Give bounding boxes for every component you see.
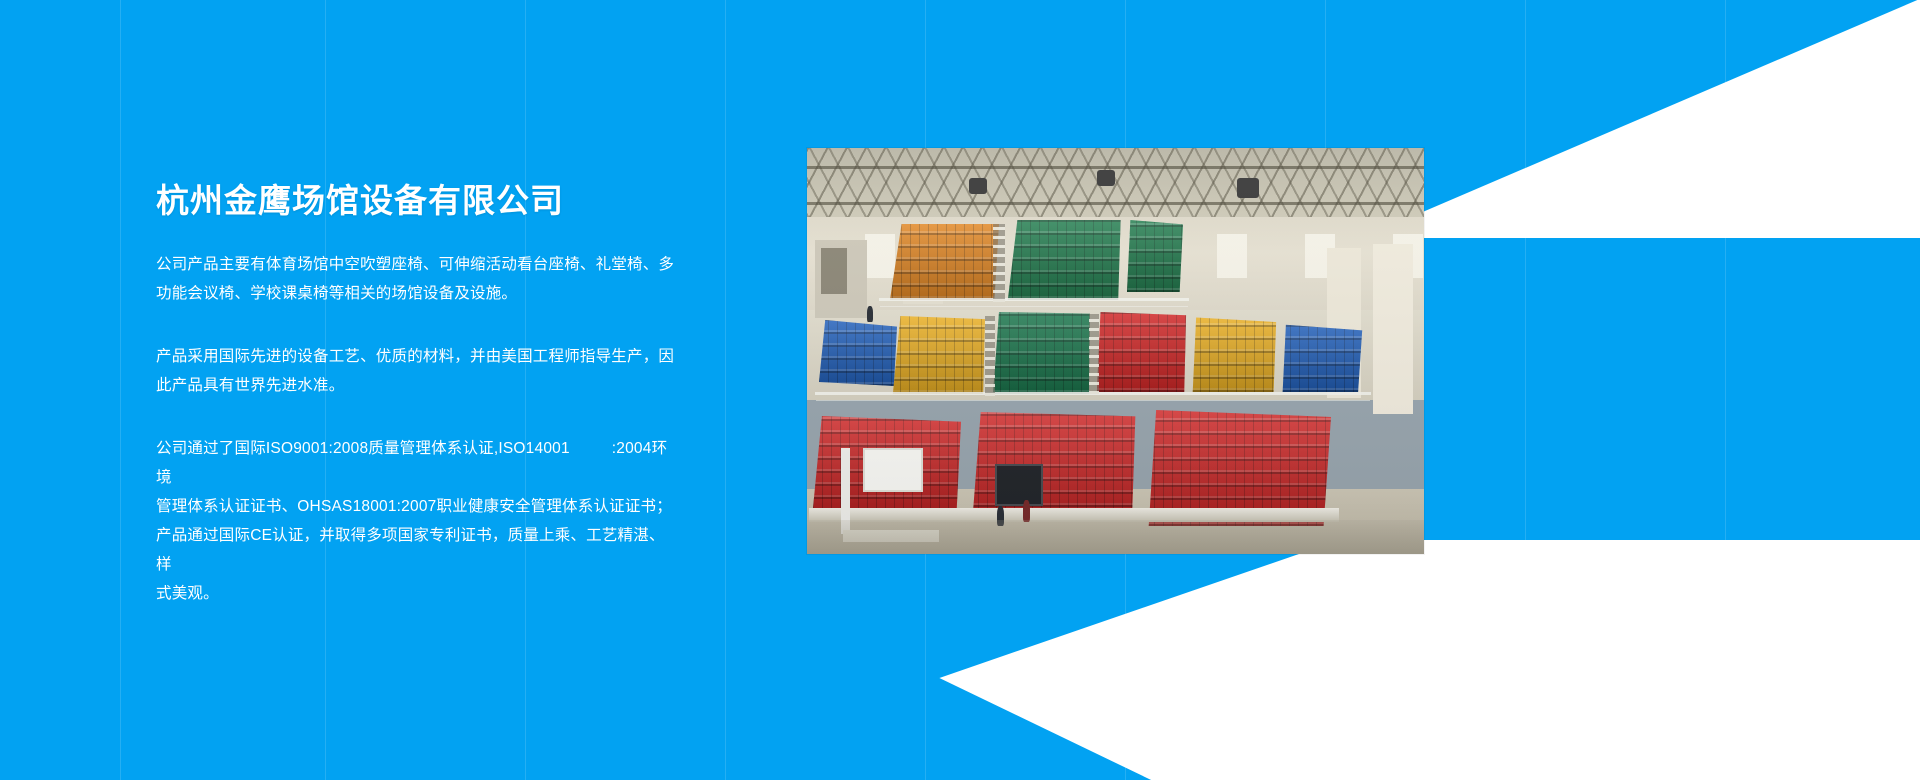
paragraph-products: 公司产品主要有体育场馆中空吹塑座椅、可伸缩活动看台座椅、礼堂椅、多功能会议椅、学… [156,250,676,308]
hero-copy: 杭州金鹰场馆设备有限公司 公司产品主要有体育场馆中空吹塑座椅、可伸缩活动看台座椅… [156,180,676,608]
cert-line-2: 管理体系认证证书、OHSAS18001:2007职业健康安全管理体系认证证书； [156,498,672,515]
photo-tone-overlay [807,148,1424,554]
paragraph-certifications: 公司通过了国际ISO9001:2008质量管理体系认证,ISO14001:200… [156,434,676,608]
stadium-photo-image [807,148,1424,554]
cert-line-1a: 公司通过了国际ISO9001:2008质量管理体系认证,ISO14001 [156,440,570,457]
page-title: 杭州金鹰场馆设备有限公司 [156,180,676,222]
cert-line-4: 式美观。 [156,585,219,602]
cert-line-3: 产品通过国际CE认证，并取得多项国家专利证书，质量上乘、工艺精湛、样 [156,527,665,573]
paragraph-technology: 产品采用国际先进的设备工艺、优质的材料，并由美国工程师指导生产，因此产品具有世界… [156,342,676,400]
stadium-photo [807,148,1424,554]
hero-banner: 杭州金鹰场馆设备有限公司 公司产品主要有体育场馆中空吹塑座椅、可伸缩活动看台座椅… [0,0,1920,780]
